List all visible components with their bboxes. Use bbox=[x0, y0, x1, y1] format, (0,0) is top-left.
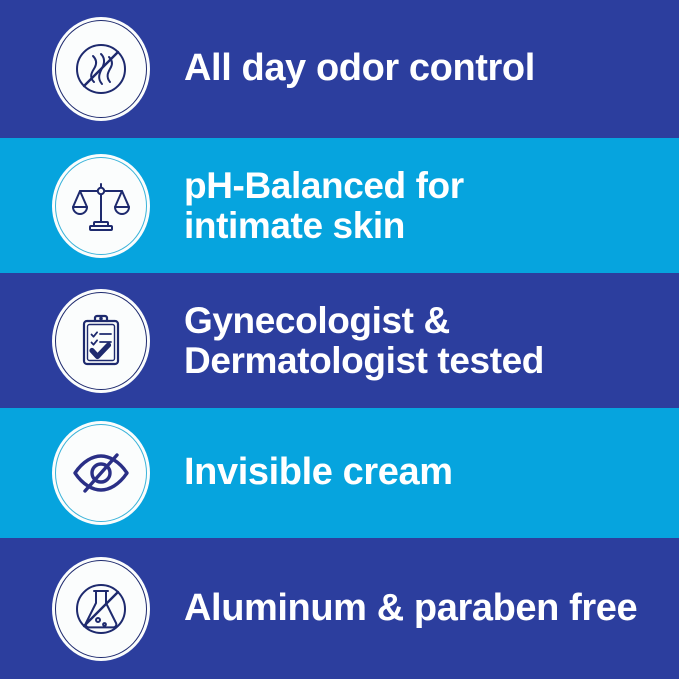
icon-badge bbox=[52, 17, 150, 121]
benefit-label: All day odor control bbox=[184, 48, 535, 89]
benefit-label: pH-Balanced for intimate skin bbox=[184, 166, 464, 245]
benefit-row-aluminum-paraben-free: Aluminum & paraben free bbox=[0, 538, 679, 679]
benefit-row-ph-balanced: pH-Balanced for intimate skin bbox=[0, 138, 679, 273]
benefit-row-odor-control: All day odor control bbox=[0, 0, 679, 138]
no-flask-icon bbox=[71, 579, 131, 639]
benefit-label: Gynecologist & Dermatologist tested bbox=[184, 301, 544, 380]
icon-badge bbox=[52, 557, 150, 661]
benefits-infographic: All day odor control bbox=[0, 0, 679, 679]
icon-badge bbox=[52, 289, 150, 393]
benefit-label: Invisible cream bbox=[184, 452, 453, 493]
benefit-label: Aluminum & paraben free bbox=[184, 588, 637, 629]
icon-badge bbox=[52, 421, 150, 525]
benefit-row-tested: Gynecologist & Dermatologist tested bbox=[0, 273, 679, 408]
icon-badge bbox=[52, 154, 150, 258]
no-odor-icon bbox=[71, 39, 131, 99]
benefit-row-invisible-cream: Invisible cream bbox=[0, 408, 679, 538]
clipboard-check-icon bbox=[71, 311, 131, 371]
eye-slash-icon bbox=[71, 443, 131, 503]
balance-scale-icon bbox=[71, 176, 131, 236]
